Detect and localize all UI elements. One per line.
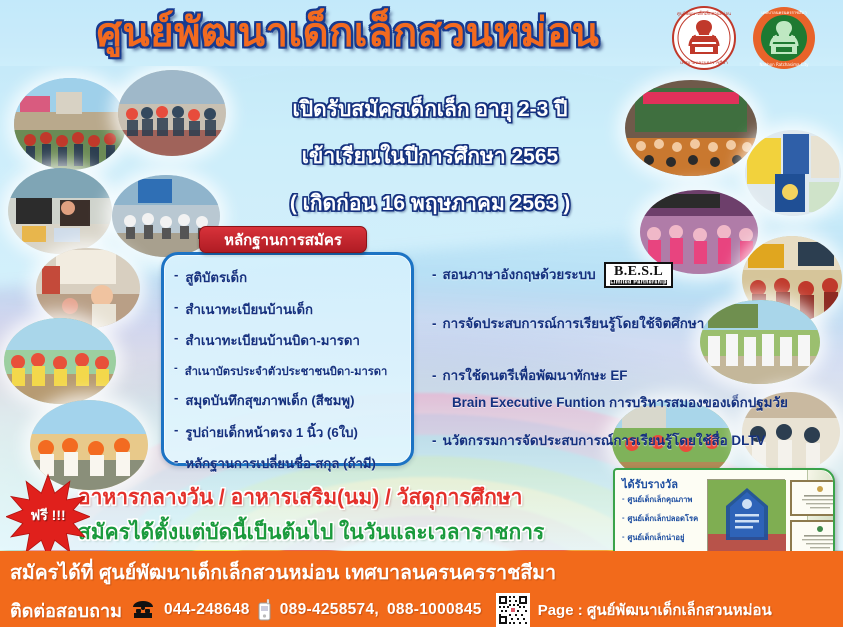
list-dash: - xyxy=(174,267,178,282)
besl-logo-icon: B.E.S.L Limited Partnership xyxy=(604,262,672,288)
footer-apply-location: สมัครได้ที่ ศูนย์พัฒนาเด็กเล็กสวนหม่อน เ… xyxy=(10,557,556,588)
feature-item-english: -สอนภาษาอังกฤษด้วยระบบ B.E.S.L Limited P… xyxy=(432,262,673,288)
award-list: - ศูนย์เด็กเล็กคุณภาพ - ศูนย์เด็กเล็กปลอ… xyxy=(622,494,698,544)
list-dash: - xyxy=(432,433,436,448)
seal-municipality-green-icon: เทศบาลนครนครราชสีมา Nakhon Ratchasima Ci… xyxy=(752,6,816,70)
photo-bubble-outdoor-group xyxy=(14,78,126,170)
headline-line-3: ( เกิดก่อน 16 พฤษภาคม 2563 ) xyxy=(215,187,645,220)
footer-page-label: Page : ศูนย์พัฒนาเด็กเล็กสวนหม่อน xyxy=(538,598,772,622)
document-item: - สำเนาทะเบียนบ้านเด็ก xyxy=(174,299,411,320)
free-burst-label: ฟรี !!! xyxy=(6,474,90,558)
footer-contact-bar: สมัครได้ที่ ศูนย์พัฒนาเด็กเล็กสวนหม่อน เ… xyxy=(0,551,843,627)
award-item-label: ศูนย์เด็กเล็กน่าอยู่ xyxy=(628,532,685,544)
list-dash: - xyxy=(432,316,436,331)
headline-line-1: เปิดรับสมัครเด็กเล็ก อายุ 2-3 ปี xyxy=(215,93,645,126)
list-dash: - xyxy=(174,453,178,468)
document-item-label: สำเนาบัตรประจำตัวประชาชนบิดา-มารดา xyxy=(185,362,388,380)
feature-label: นวัตกรรมการจัดประสบการณ์การเรียนรู้โดยใช… xyxy=(442,433,765,448)
award-title: ได้รับรางวัล xyxy=(622,475,678,493)
list-dash: - xyxy=(622,494,625,506)
photo-bubble-classroom-play xyxy=(8,168,112,254)
feature-label: สอนภาษาอังกฤษด้วยระบบ xyxy=(442,267,595,282)
award-card: ได้รับรางวัล - ศูนย์เด็กเล็กคุณภาพ - ศูน… xyxy=(613,468,835,563)
svg-text:เทศบาลนครนครราชสีมา: เทศบาลนครนครราชสีมา xyxy=(761,10,806,15)
promo-line-free-items: อาหารกลางวัน / อาหารเสริม(นม) / วัสดุการ… xyxy=(78,481,522,514)
document-item: - สำเนาทะเบียนบ้านบิดา-มารดา xyxy=(174,330,411,351)
list-dash: - xyxy=(432,267,436,282)
poster-root: ศูนย์พัฒนาเด็กเล็กสวนหม่อน ศูนย์พัฒนาเด็… xyxy=(0,0,843,627)
document-item: - หลักฐานการเปลี่ยนชื่อ-สกุล (ถ้ามี) xyxy=(174,453,411,474)
telephone-icon xyxy=(130,600,156,620)
document-item-label: สมุดบันทึกสุขภาพเด็ก (สีชมพู) xyxy=(185,390,354,411)
svg-text:Nakhon Ratchasima City: Nakhon Ratchasima City xyxy=(759,62,809,67)
list-dash: - xyxy=(174,299,178,314)
list-dash: - xyxy=(174,422,178,437)
qr-code-icon xyxy=(496,593,530,627)
feature-label: การใช้ดนตรีเพื่อพัฒนาทักษะ EF xyxy=(442,368,627,383)
photo-bubble-kids-line xyxy=(4,318,116,404)
footer-contact-label: ติดต่อสอบถาม xyxy=(10,596,122,625)
promo-line-apply-now: สมัครได้ตั้งแต่บัดนี้เป็นต้นไป ในวันและเ… xyxy=(78,516,544,549)
award-item: - ศูนย์เด็กเล็กคุณภาพ xyxy=(622,494,698,506)
list-dash: - xyxy=(622,532,625,544)
photo-bubble-white-uniform-line xyxy=(700,300,820,384)
footer-mobile-number-2: 088-1000845 xyxy=(387,601,482,619)
feature-item-dltv: -นวัตกรรมการจัดประสบการณ์การเรียนรู้โดยใ… xyxy=(432,430,765,451)
list-dash: - xyxy=(174,390,178,405)
photo-bubble-staff-group xyxy=(118,70,226,156)
feature-item-music-ef-second-line: Brain Executive Funtion การบริหารสมองของ… xyxy=(452,392,788,413)
document-item: - สมุดบันทึกสุขภาพเด็ก (สีชมพู) xyxy=(174,390,411,411)
feature-label: การจัดประสบการณ์การเรียนรู้โดยใช้จิตศึกษ… xyxy=(442,316,704,331)
award-item-label: ศูนย์เด็กเล็กคุณภาพ xyxy=(628,494,693,506)
document-item-label: สำเนาทะเบียนบ้านเด็ก xyxy=(185,299,313,320)
list-dash: - xyxy=(174,330,178,345)
feature-item-jitsuksa: -การจัดประสบการณ์การเรียนรู้โดยใช้จิตศึก… xyxy=(432,313,704,334)
award-item: - ศูนย์เด็กเล็กปลอดโรค xyxy=(622,513,698,525)
document-item: - รูปถ่ายเด็กหน้าตรง 1 นิ้ว (6ใบ) xyxy=(174,422,411,443)
documents-box: - สูติบัตรเด็ก - สำเนาทะเบียนบ้านเด็ก - … xyxy=(161,252,414,466)
footer-landline-number: 044-248648 xyxy=(164,601,250,619)
award-trophy-photo xyxy=(707,479,785,557)
page-title: ศูนย์พัฒนาเด็กเล็กสวนหม่อน xyxy=(28,4,668,60)
mobile-phone-icon xyxy=(258,599,272,621)
document-item-label: หลักฐานการเปลี่ยนชื่อ-สกุล (ถ้ามี) xyxy=(185,453,376,474)
seal-nursery-red-icon: ศูนย์พัฒนาเด็กเล็กสวนหม่อน เทศบาลนครนครร… xyxy=(672,6,736,70)
award-item: - ศูนย์เด็กเล็กน่าอยู่ xyxy=(622,532,698,544)
photo-bubble-besl-materials xyxy=(745,130,841,216)
document-item: - สูติบัตรเด็ก xyxy=(174,267,411,288)
svg-text:เทศบาลนครนครราชสีมา: เทศบาลนครนครราชสีมา xyxy=(680,60,728,66)
document-item: - สำเนาบัตรประจำตัวประชาชนบิดา-มารดา xyxy=(174,362,411,380)
footer-mobile-number-1: 089-4258574, xyxy=(280,601,379,619)
besl-sub-text: Limited Partnership xyxy=(610,280,666,285)
besl-main-text: B.E.S.L xyxy=(614,264,663,279)
award-item-label: ศูนย์เด็กเล็กปลอดโรค xyxy=(628,513,699,525)
list-dash: - xyxy=(432,368,436,383)
documents-badge: หลักฐานการสมัคร xyxy=(199,226,367,253)
photo-bubble-library xyxy=(36,248,140,328)
feature-item-music-ef: -การใช้ดนตรีเพื่อพัฒนาทักษะ EF xyxy=(432,365,627,386)
award-certificate-top xyxy=(790,480,835,516)
footer-contact-row: ติดต่อสอบถาม 044-248648 089-4258574, 088… xyxy=(10,593,772,627)
list-dash: - xyxy=(622,513,625,525)
free-burst-badge: ฟรี !!! xyxy=(6,473,90,557)
headline-line-2: เข้าเรียนในปีการศึกษา 2565 xyxy=(215,140,645,173)
document-item-label: สูติบัตรเด็ก xyxy=(185,267,247,288)
document-item-label: รูปถ่ายเด็กหน้าตรง 1 นิ้ว (6ใบ) xyxy=(185,422,358,443)
document-item-label: สำเนาทะเบียนบ้านบิดา-มารดา xyxy=(185,330,359,351)
list-dash: - xyxy=(174,362,178,374)
